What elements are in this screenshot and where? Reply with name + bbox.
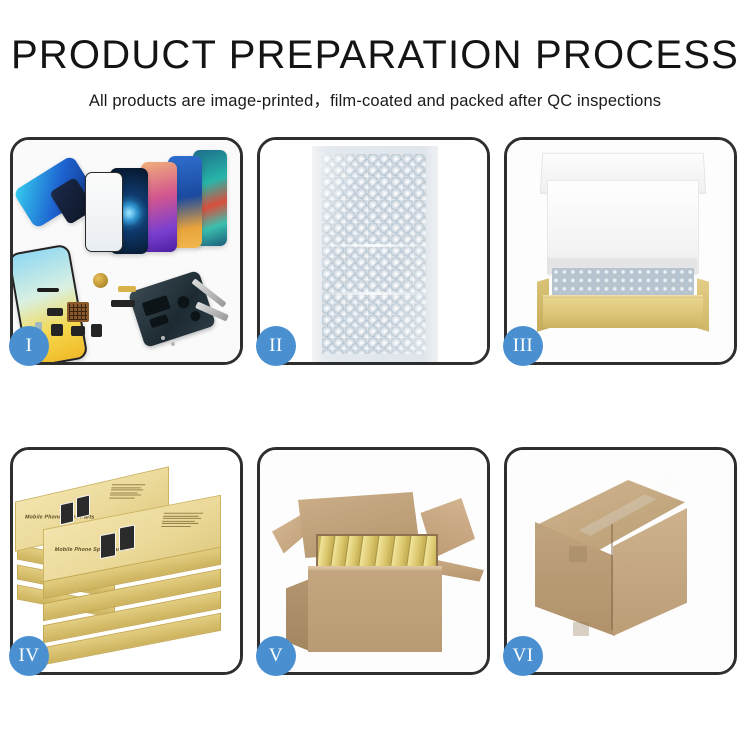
box-front-panel-icon	[543, 298, 703, 328]
page-subtitle: All products are image-printed，film-coat…	[0, 87, 750, 111]
step-5-image	[260, 450, 487, 672]
step-3-image	[507, 140, 734, 362]
step-panel-6[interactable]: VI	[504, 447, 737, 675]
step-panel-4[interactable]: Mobile Phone Spare Parts Mobile Phone Sp…	[10, 447, 243, 675]
vibrator-part-icon	[91, 324, 102, 337]
bubble-wrap-seam	[322, 244, 426, 247]
step-number-badge-2: II	[256, 326, 296, 366]
step-1-image	[13, 140, 240, 362]
bubble-wrap-icon	[322, 154, 426, 354]
step-number-badge-1: I	[9, 326, 49, 366]
step-2-image	[260, 140, 487, 362]
speaker-part-icon	[93, 273, 108, 288]
step-6-image	[507, 450, 734, 672]
process-steps-grid: I II III	[10, 137, 740, 675]
step-number-badge-4: IV	[9, 636, 49, 676]
flex-cable-part-icon	[118, 286, 136, 292]
bracket-part-icon	[47, 308, 63, 316]
step-number-badge-3: III	[503, 326, 543, 366]
step-number-badge-5: V	[256, 636, 296, 676]
page-header: PRODUCT PREPARATION PROCESS All products…	[0, 0, 750, 111]
step-panel-3[interactable]: III	[504, 137, 737, 365]
screw-part-icon	[171, 342, 175, 346]
step-panel-1[interactable]: I	[10, 137, 243, 365]
page-title: PRODUCT PREPARATION PROCESS	[0, 34, 750, 76]
screw-part-icon	[161, 336, 165, 340]
earpiece-mesh-part-icon	[37, 288, 59, 292]
phone-screen-white-icon	[85, 172, 123, 252]
step-panel-5[interactable]: V	[257, 447, 490, 675]
carton-flap-tab-icon	[569, 546, 587, 562]
connector-grid-part-icon	[67, 302, 89, 322]
taptic-engine-part-icon	[71, 326, 85, 336]
flex-cable-dark-part-icon	[111, 300, 135, 307]
step-number-badge-6: VI	[503, 636, 543, 676]
carton-front-panel-icon	[308, 570, 442, 652]
bubble-wrap-seam	[322, 292, 426, 295]
step-4-image: Mobile Phone Spare Parts Mobile Phone Sp…	[13, 450, 240, 672]
carton-flap-tab-icon	[573, 622, 589, 636]
camera-module-part-icon	[51, 324, 63, 336]
step-panel-2[interactable]: II	[257, 137, 490, 365]
